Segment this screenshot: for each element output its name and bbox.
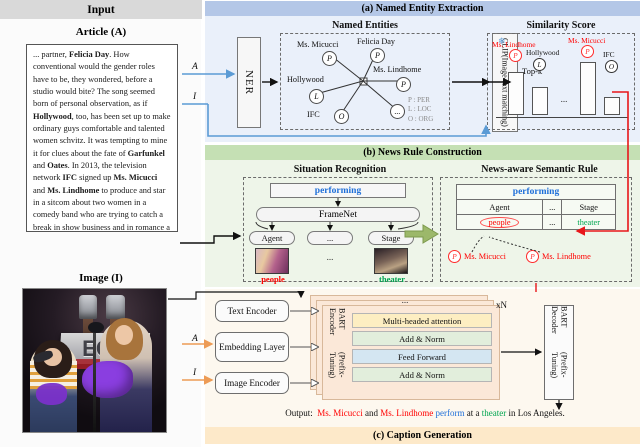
situation-recognition-title: Situation Recognition (255, 164, 425, 175)
bart-encoder-label: BART Encoder (Prefix-Tuning) (326, 308, 348, 396)
photo-prop-robot-right (106, 295, 125, 319)
rule-entity-badge-micucci: P (448, 250, 461, 263)
bart-decoder: BART Decoder (Prefix-Tuning) (544, 305, 574, 400)
embedding-layer: Embedding Layer (215, 332, 289, 362)
news-aware-rule-title: News-aware Semantic Rule (452, 164, 627, 175)
framenet-box: FrameNet (256, 207, 420, 222)
layer-feed-forward: Feed Forward (352, 349, 492, 364)
connector-label-i-bottom: I (193, 368, 196, 378)
chart-axis-baseline (496, 117, 628, 118)
legend-org: O : ORG (408, 115, 433, 124)
chart-badge-ms-lindhome: P (509, 49, 522, 62)
photo-mic-stand (93, 326, 96, 432)
semantic-rule-table: performing Agent ... Stage people ... th… (456, 184, 616, 230)
photo-ukulele (36, 383, 67, 404)
bart-encoder-line1: BART Encoder (328, 308, 347, 352)
photo-microphone (88, 322, 104, 333)
table-row-headers: Agent ... Stage (457, 200, 616, 215)
entity-node-felicia-day: P (370, 48, 385, 63)
output-prefix: Output: (285, 408, 313, 418)
image-title: Image (I) (0, 272, 202, 284)
role-value-ellipsis: ... (307, 252, 353, 262)
bart-decoder-line2: (Prefix-Tuning) (550, 352, 569, 399)
ner-module-label: NER (238, 38, 260, 127)
ner-module: NER (237, 37, 261, 128)
named-entities-panel: Ms. Micucci P Felicia Day P Ms. Lindhome… (280, 33, 450, 130)
table-row-values: people ... theater (457, 215, 616, 230)
input-header: Input (0, 0, 202, 19)
named-entities-title: Named Entities (280, 20, 450, 31)
rule-header-agent: Agent (457, 200, 543, 215)
similarity-score-chart: ... Ms. Lindhome P Hollywood L Ms. Micuc… (487, 33, 635, 130)
rule-header-ellipsis: ... (543, 200, 562, 215)
role-stage-thumbnail (374, 248, 408, 274)
entity-type-legend: P : PER L : LOC O : ORG (408, 96, 433, 124)
article-title: Article (A) (0, 26, 202, 38)
rule-header-stage: Stage (562, 200, 616, 215)
entity-label-hollywood: Hollywood (287, 75, 324, 84)
output-place: theater (482, 408, 506, 418)
legend-per: P : PER (408, 96, 433, 105)
rule-value-people: people (480, 217, 518, 228)
entity-node-ms-lindhome: P (396, 77, 411, 92)
rule-verb-cell: performing (457, 185, 616, 200)
rule-entity-ms-lindhome: P Ms. Lindhome (526, 250, 591, 263)
rule-linked-entities: P Ms. Micucci P Ms. Lindhome (448, 250, 628, 263)
chart-badge-ifc: O (605, 60, 618, 73)
chart-label-ifc: IFC (603, 50, 615, 59)
bar-hollywood (532, 87, 548, 115)
output-caption: Output: Ms. Micucci and Ms. Lindhome per… (215, 408, 635, 418)
chart-ellipsis: ... (551, 94, 577, 104)
article-body-text: ... partner, Felicia Day. How convention… (33, 50, 170, 232)
entity-node-ifc: O (334, 109, 349, 124)
entity-label-ms-lindhome: Ms. Lindhome (373, 65, 421, 74)
entity-label-ms-micucci: Ms. Micucci (297, 40, 338, 49)
rule-entity-name-micucci: Ms. Micucci (464, 252, 506, 261)
bar-ms-micucci (580, 62, 596, 115)
situation-verb-box: performing (270, 183, 406, 198)
section-b-banner: (b) News Rule Construction (205, 145, 640, 160)
role-value-theater: theater (368, 274, 416, 284)
article-text-box: ... partner, Felicia Day. How convention… (26, 44, 178, 232)
encoder-stack-ellipsis: ... (316, 295, 494, 305)
photo-guitar-purple (82, 361, 133, 398)
role-agent-thumbnail (255, 248, 289, 274)
output-tail: in Los Angeles. (506, 408, 565, 418)
entity-node-hollywood: L (309, 89, 324, 104)
bart-decoder-line1: BART Decoder (550, 306, 569, 352)
connector-label-i-top: I (193, 92, 196, 102)
legend-loc: L : LOC (408, 105, 433, 114)
entity-label-ifc: IFC (307, 110, 320, 119)
entity-node-ms-micucci: P (322, 51, 337, 66)
bart-encoder-line2: (Prefix-Tuning) (328, 352, 347, 396)
entity-node-more: ... (390, 104, 405, 119)
output-prep: at a (465, 408, 482, 418)
text-encoder: Text Encoder (215, 300, 289, 322)
rule-entity-ms-micucci: P Ms. Micucci (448, 250, 506, 263)
chart-label-ms-micucci: Ms. Micucci (568, 36, 605, 45)
rule-value-ellipsis: ... (543, 215, 562, 230)
photo-person-right-face (115, 325, 134, 345)
rule-entity-badge-lindhome: P (526, 250, 539, 263)
section-c-banner: (c) Caption Generation (205, 427, 640, 444)
entity-label-felicia-day: Felicia Day (357, 37, 395, 46)
encoder-repeat-label: xN (496, 300, 507, 310)
table-row-verb: performing (457, 185, 616, 200)
rule-value-theater: theater (562, 215, 616, 230)
role-agent: Agent (249, 231, 295, 245)
rule-entity-name-lindhome: Ms. Lindhome (542, 252, 591, 261)
bar-ms-lindhome (508, 72, 524, 115)
connector-label-a-top: A (192, 62, 198, 72)
output-entity-lindhome: Ms. Lindhome (380, 408, 433, 418)
figure-root: Input Article (A) ... partner, Felicia D… (0, 0, 640, 447)
photo-prop-robot-left (79, 295, 98, 319)
section-a-banner: (a) Named Entity Extraction (205, 1, 640, 16)
layer-add-norm-2: Add & Norm (352, 367, 492, 382)
output-conj: and (363, 408, 381, 418)
role-ellipsis: ... (307, 231, 353, 245)
role-value-people: people (251, 274, 295, 284)
output-verb: perform (436, 408, 465, 418)
input-photo: EGA (22, 288, 167, 433)
chart-badge-hollywood: L (533, 58, 546, 71)
layer-multi-headed-attention: Multi-headed attention (352, 313, 492, 328)
rule-value-agent: people (457, 215, 543, 230)
connector-label-a-bottom: A (192, 334, 198, 344)
similarity-score-title: Similarity Score (487, 20, 635, 31)
chart-label-hollywood: Hollywood (526, 48, 559, 57)
bar-ifc (604, 97, 620, 115)
output-entity-micucci: Ms. Micucci (317, 408, 363, 418)
role-stage: Stage (368, 231, 414, 245)
chart-badge-ms-micucci: P (581, 45, 594, 58)
image-encoder: Image Encoder (215, 372, 289, 394)
layer-add-norm-1: Add & Norm (352, 331, 492, 346)
